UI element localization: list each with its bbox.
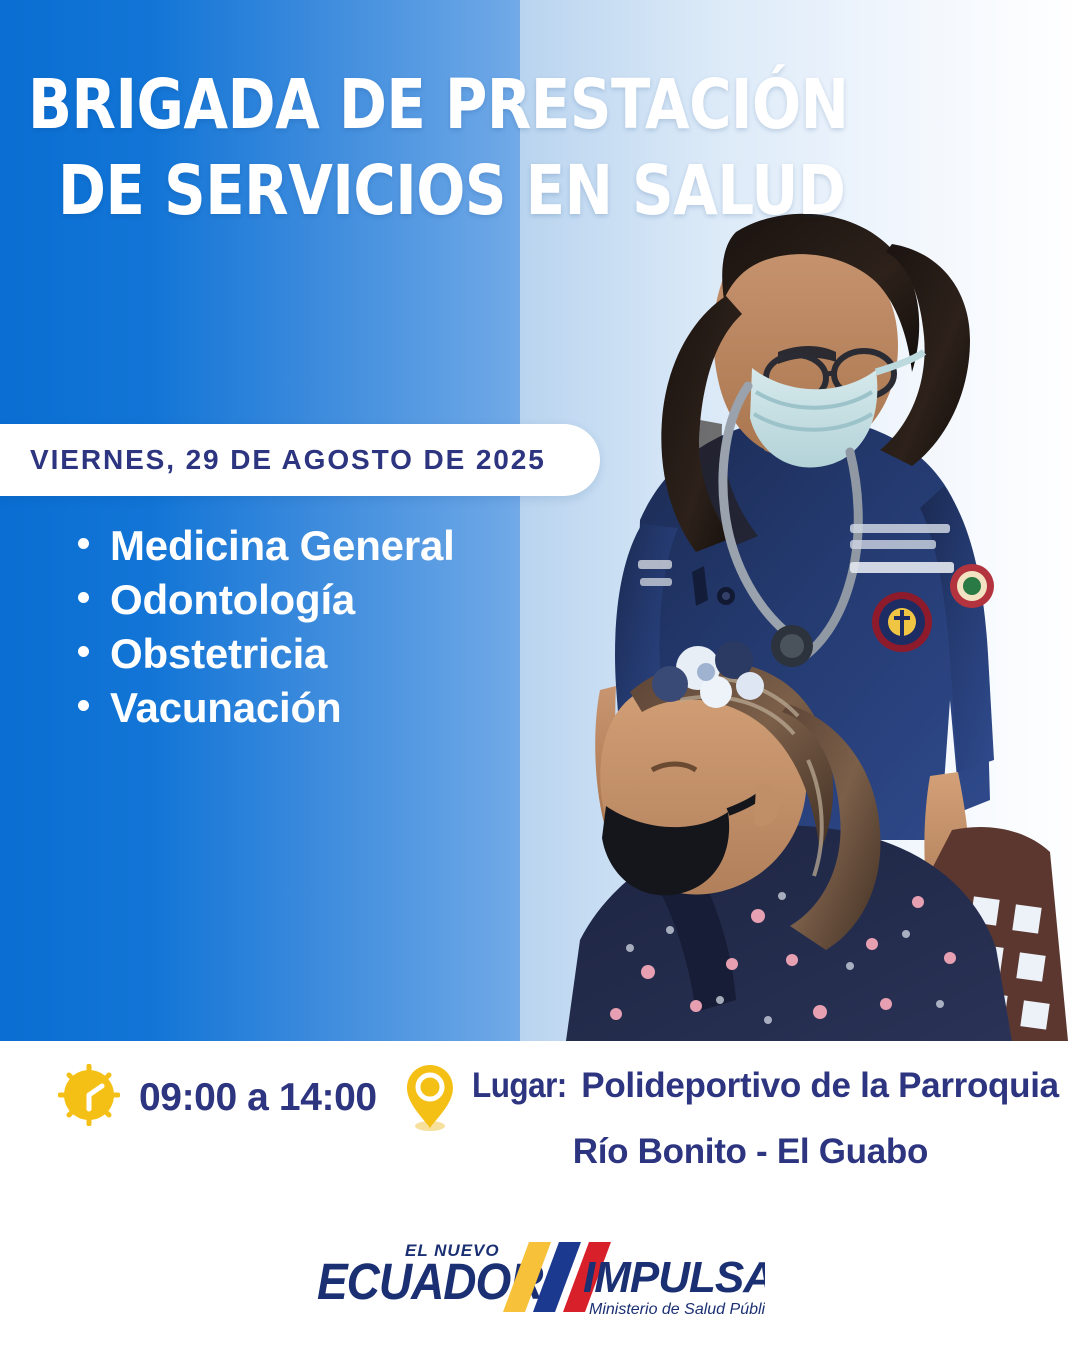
location-line-2: Río Bonito - El Guabo bbox=[472, 1127, 1059, 1177]
services-list: Medicina General Odontología Obstetricia… bbox=[78, 522, 455, 738]
service-label: Medicina General bbox=[110, 522, 455, 569]
bullet-icon bbox=[78, 700, 89, 711]
service-label: Odontología bbox=[110, 576, 355, 623]
title-line-2: DE SERVICIOS EN SALUD bbox=[58, 148, 644, 234]
date-banner: VIERNES, 29 DE AGOSTO DE 2025 bbox=[0, 424, 600, 496]
schedule-group: 09:00 a 14:00 bbox=[58, 1064, 377, 1131]
logo-word-impulsa: IMPULSA bbox=[583, 1253, 765, 1302]
clock-icon bbox=[58, 1064, 120, 1131]
location-line-1: Lugar:Polideportivo de la Parroquia bbox=[472, 1061, 1059, 1111]
logo-ministry: Ministerio de Salud Pública bbox=[589, 1301, 765, 1318]
location-venue: Polideportivo de la Parroquia bbox=[581, 1066, 1059, 1105]
service-item: Odontología bbox=[78, 576, 455, 623]
info-bar: 09:00 a 14:00 Lugar:Polideportivo de la … bbox=[0, 1041, 1080, 1231]
schedule-time: 09:00 a 14:00 bbox=[139, 1076, 377, 1120]
service-item: Obstetricia bbox=[78, 630, 455, 677]
poster-title: BRIGADA DE PRESTACIÓN DE SERVICIOS EN SA… bbox=[28, 62, 688, 234]
bullet-icon bbox=[78, 646, 89, 657]
service-label: Vacunación bbox=[110, 684, 341, 731]
service-label: Obstetricia bbox=[110, 630, 327, 677]
government-logo: EL NUEVO ECUADOR IMPULSA Ministerio de S… bbox=[0, 1232, 1080, 1328]
location-group: Lugar:Polideportivo de la Parroquia Río … bbox=[404, 1061, 1059, 1177]
service-item: Vacunación bbox=[78, 684, 455, 731]
hero-panel: BRIGADA DE PRESTACIÓN DE SERVICIOS EN SA… bbox=[0, 0, 1080, 1041]
date-banner-text: VIERNES, 29 DE AGOSTO DE 2025 bbox=[30, 444, 546, 476]
health-brigade-poster: BRIGADA DE PRESTACIÓN DE SERVICIOS EN SA… bbox=[0, 0, 1080, 1350]
location-label: Lugar: bbox=[472, 1061, 567, 1111]
location-text: Lugar:Polideportivo de la Parroquia Río … bbox=[472, 1061, 1059, 1177]
map-pin-icon bbox=[404, 1061, 456, 1138]
bullet-icon bbox=[78, 592, 89, 603]
title-line-1: BRIGADA DE PRESTACIÓN bbox=[28, 62, 642, 148]
service-item: Medicina General bbox=[78, 522, 455, 569]
bullet-icon bbox=[78, 538, 89, 549]
